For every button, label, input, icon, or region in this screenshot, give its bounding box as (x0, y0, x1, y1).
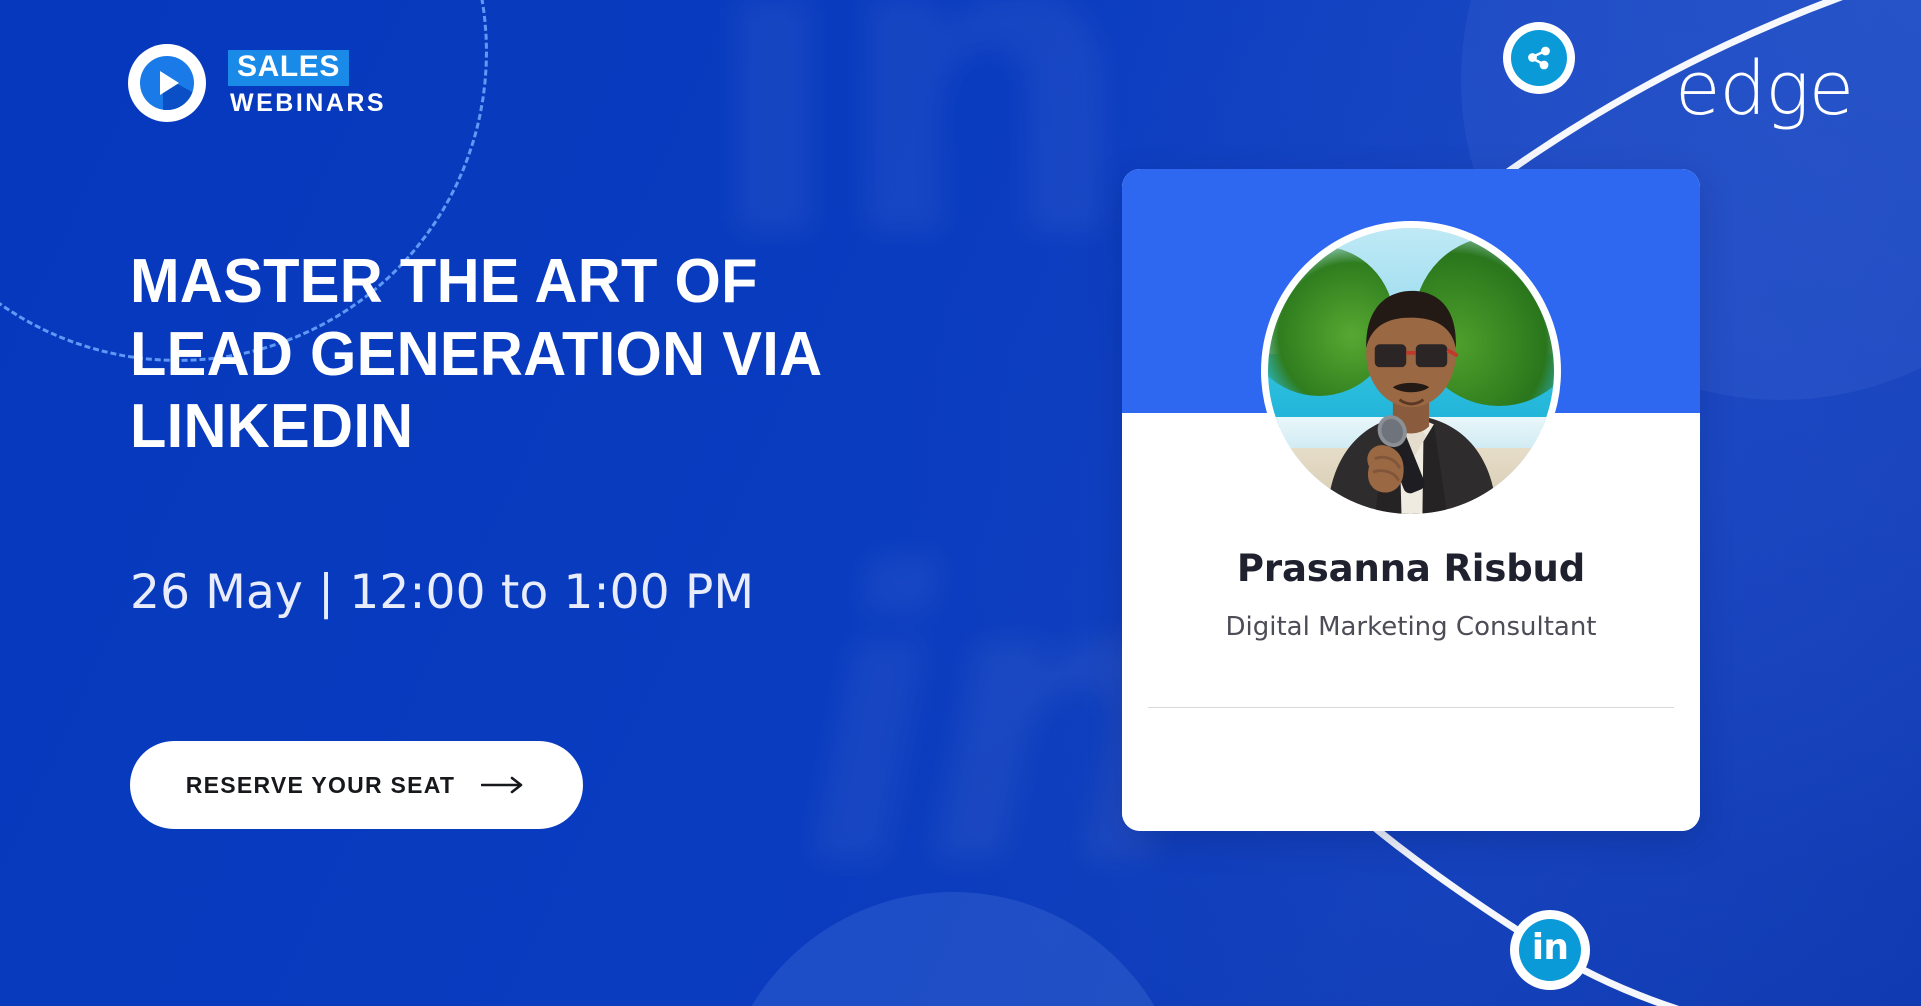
brand-lockup: SALES WEBINARS (128, 44, 386, 122)
page-title: MASTER THE ART OF LEAD GENERATION VIA LI… (130, 246, 1071, 464)
share-nodes-icon[interactable] (1503, 22, 1575, 94)
headline-line-2: LEAD GENERATION VIA (130, 319, 1071, 392)
cta-label: RESERVE YOUR SEAT (186, 772, 455, 799)
speaker-role: Digital Marketing Consultant (1122, 612, 1700, 642)
reserve-your-seat-button[interactable]: RESERVE YOUR SEAT (130, 741, 583, 829)
headline-line-1: MASTER THE ART OF (130, 246, 1071, 319)
card-divider (1148, 707, 1674, 708)
schedule-text: 26 May | 12:00 to 1:00 PM (130, 565, 754, 620)
arrow-right-icon (481, 776, 527, 794)
speaker-card: Prasanna Risbud Digital Marketing Consul… (1122, 169, 1700, 831)
linkedin-glyph: in (1532, 930, 1569, 966)
headline-line-3: LINKEDIN (130, 391, 1071, 464)
webinar-promo-banner: in in SALES WEBINARS edge MASTER THE ART… (0, 0, 1921, 1006)
brand-webinars-label: WEBINARS (228, 90, 386, 117)
avatar (1261, 221, 1561, 521)
linkedin-icon[interactable]: in (1510, 910, 1590, 990)
play-circle-icon (128, 44, 206, 122)
brand-sales-label: SALES (228, 50, 349, 86)
edge-logo: edge (1675, 52, 1853, 126)
linkedin-watermark-upper: in (700, 0, 1119, 261)
speaker-name: Prasanna Risbud (1122, 547, 1700, 590)
share-glyph (1524, 43, 1554, 73)
